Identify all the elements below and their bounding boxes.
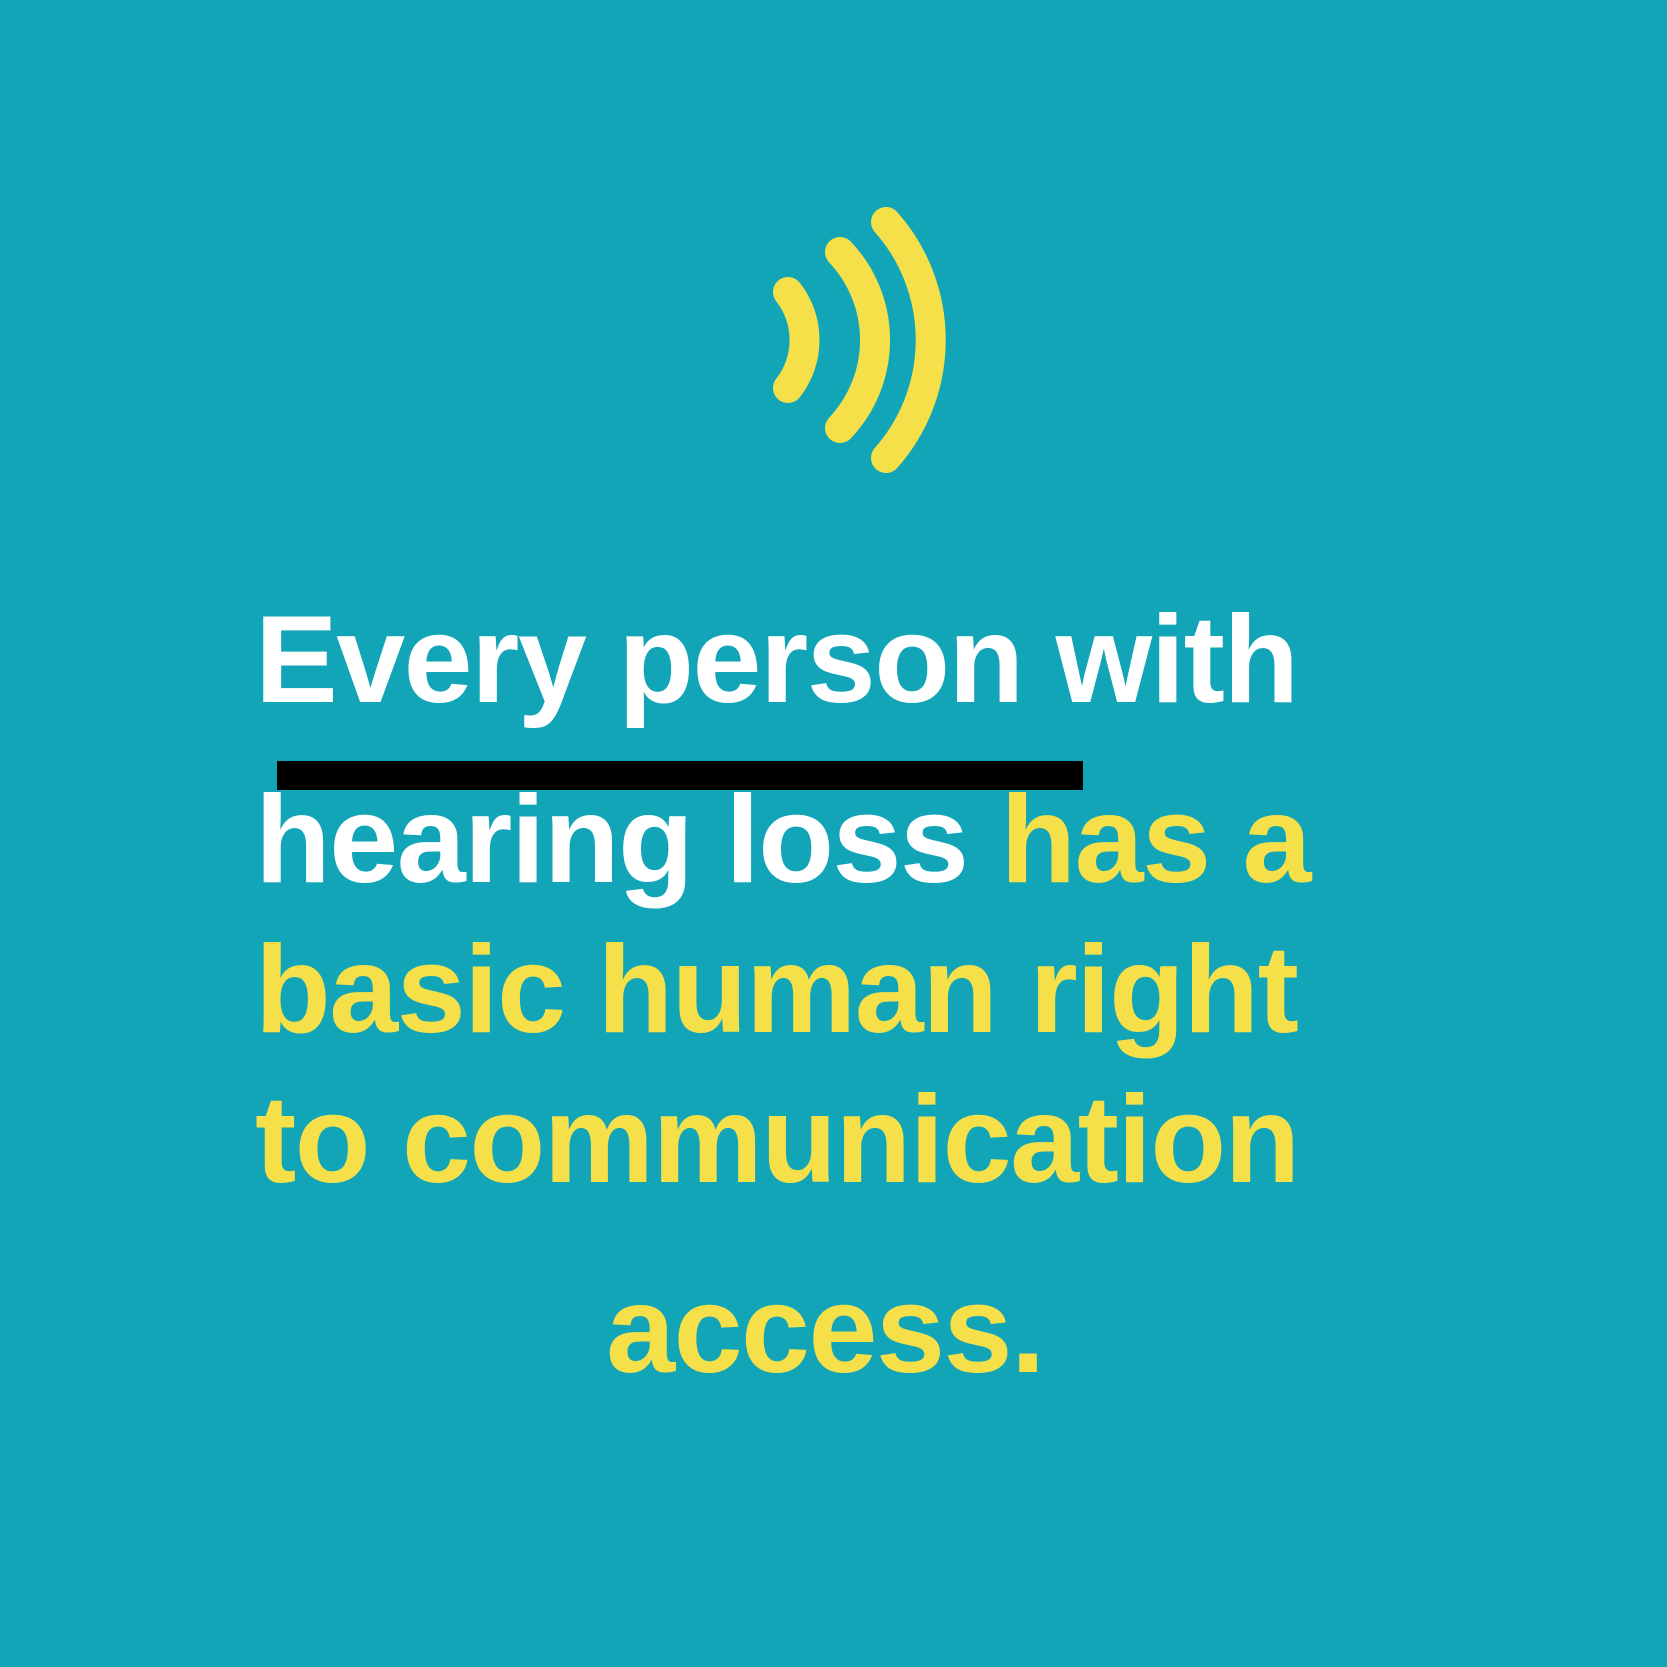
headline-line-2: hearing loss has a — [255, 776, 1435, 904]
headline-line-2-yellow-text: has a — [967, 771, 1310, 909]
sound-wave-arc-outer — [886, 222, 931, 458]
sound-wave-arc-inner — [788, 292, 805, 388]
headline-line-1-wrapper: Every person with — [255, 596, 1435, 764]
headline-line-4: to communication — [255, 1076, 1435, 1204]
quote-headline: Every person with hearing loss has a bas… — [255, 596, 1435, 1394]
headline-line-1-text: Every person with — [255, 591, 1298, 729]
quote-graphic-canvas: Every person with hearing loss has a bas… — [0, 0, 1667, 1667]
headline-line-2-white-text: hearing loss — [255, 771, 967, 909]
headline-line-1: Every person with — [255, 596, 1298, 724]
sound-wave-icon — [700, 180, 1000, 500]
black-underline-bar — [277, 761, 1083, 790]
headline-line-5: access. — [255, 1266, 1435, 1394]
headline-line-3: basic human right — [255, 926, 1435, 1054]
sound-wave-arc-middle — [840, 252, 875, 428]
